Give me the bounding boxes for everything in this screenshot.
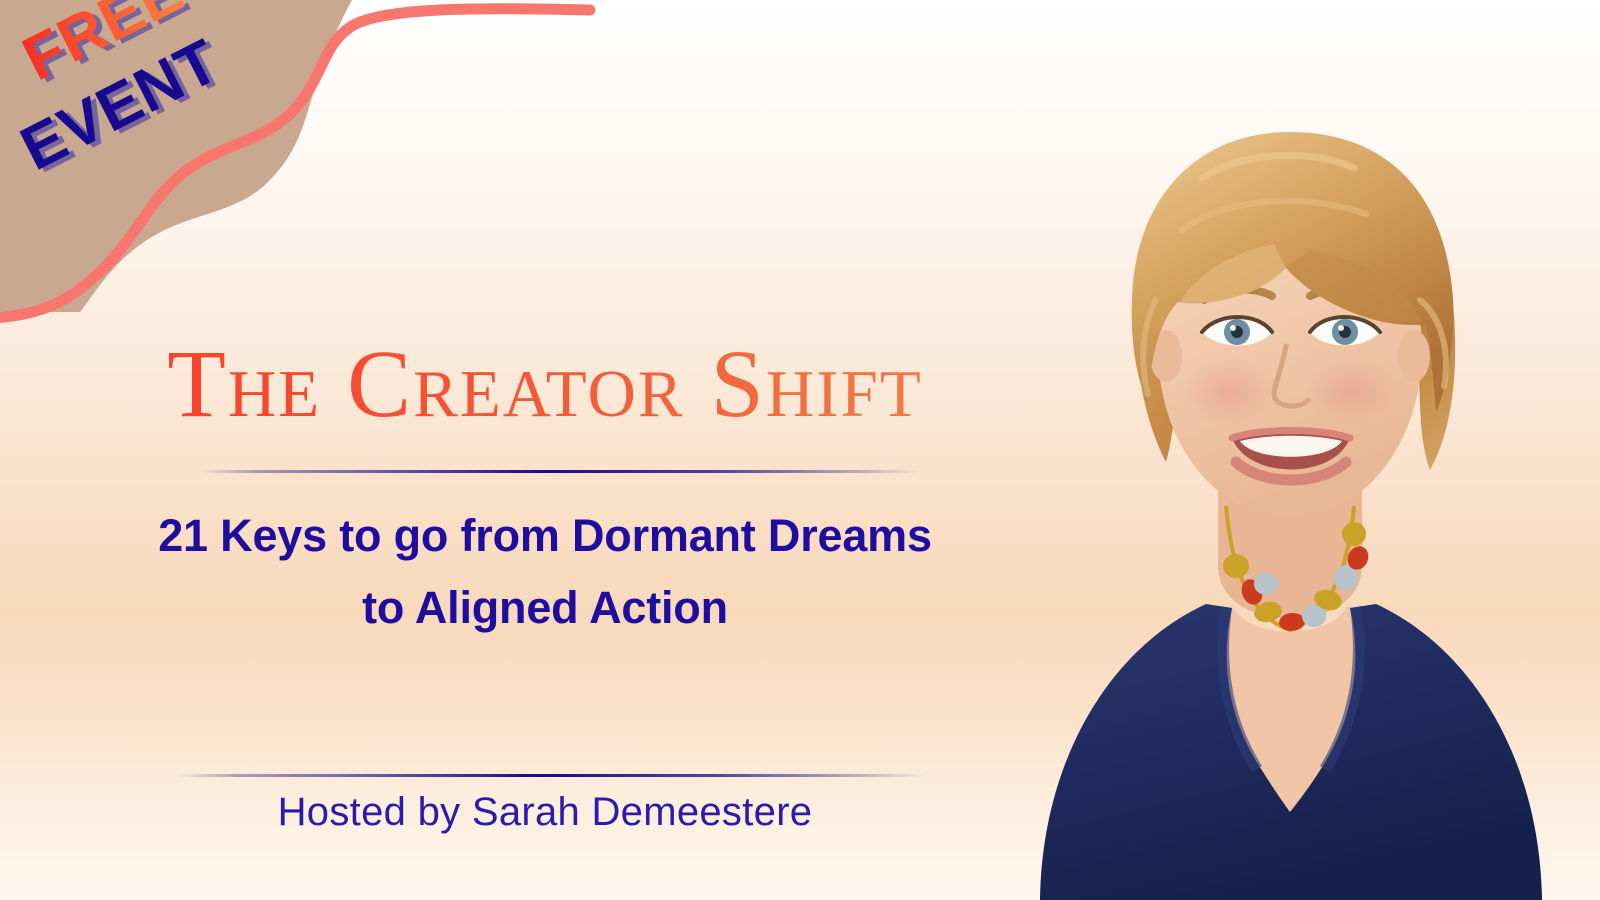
subtitle-line-2: to Aligned Action — [0, 572, 1090, 644]
event-promo-banner: FREE EVENT The Creator Shift 21 Keys to … — [0, 0, 1600, 900]
necklace-bead-gold — [1223, 554, 1249, 578]
ear-right — [1398, 330, 1430, 382]
necklace-bead-gold — [1342, 522, 1366, 546]
necklace-bead-silver — [1254, 573, 1278, 595]
event-subtitle: 21 Keys to go from Dormant Dreams to Ali… — [0, 500, 1090, 644]
host-credit: Hosted by Sarah Demeestere — [0, 790, 1090, 835]
host-portrait — [980, 0, 1600, 900]
divider-top — [200, 470, 920, 473]
free-event-badge: FREE EVENT — [0, 0, 300, 230]
subtitle-line-1: 21 Keys to go from Dormant Dreams — [0, 500, 1090, 572]
page-title: The Creator Shift — [0, 336, 1090, 432]
divider-bottom — [178, 774, 926, 777]
